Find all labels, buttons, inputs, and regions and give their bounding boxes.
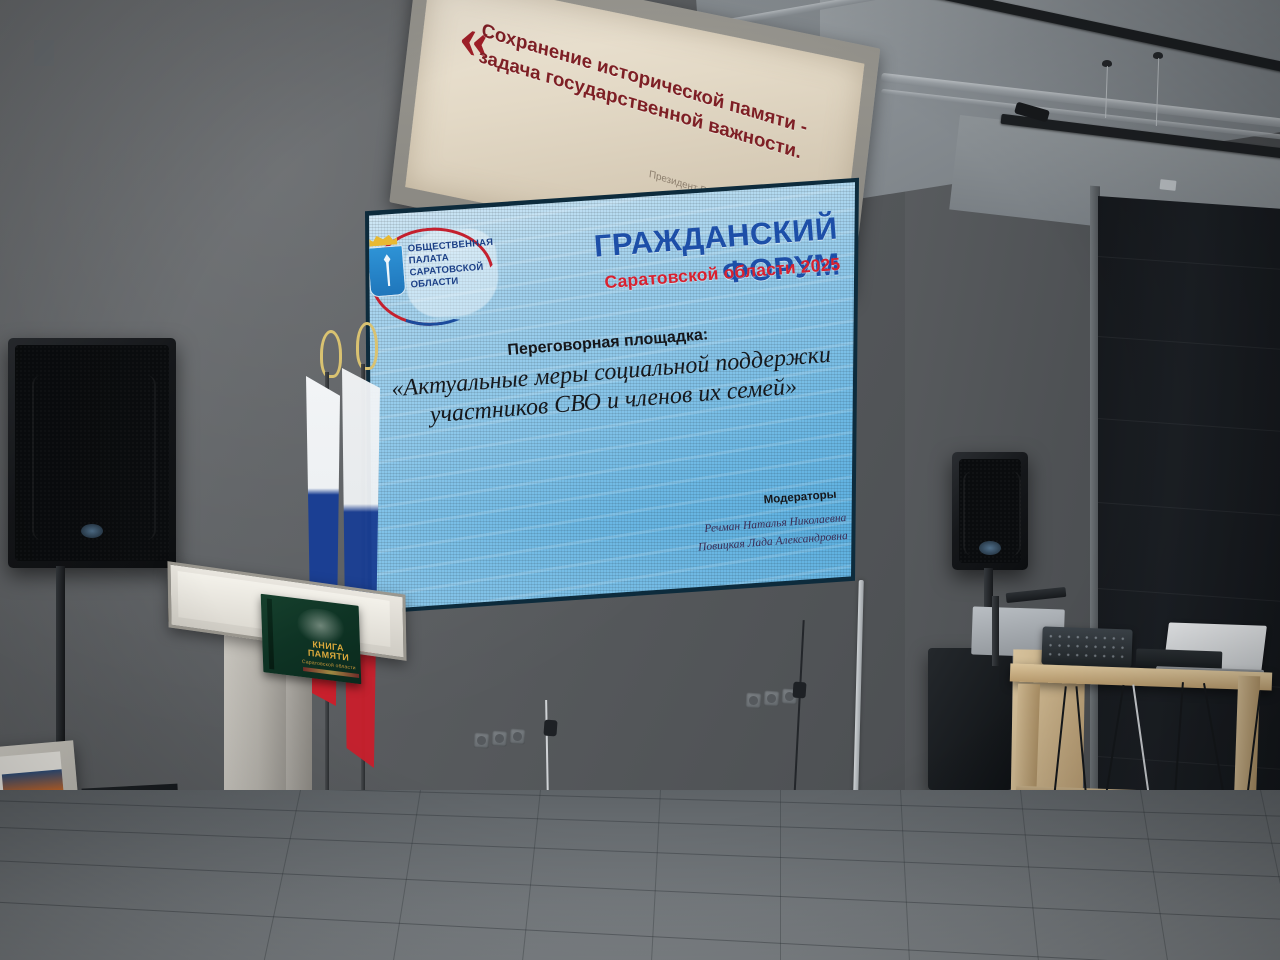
flag-finial-icon — [320, 330, 342, 378]
speaker-brand-badge-icon — [979, 541, 1001, 555]
monitor-mount-pole — [992, 596, 999, 666]
led-video-wall: ОБЩЕСТВЕННАЯ ПАЛАТА САРАТОВСКОЙ ОБЛАСТИ … — [362, 176, 862, 616]
floor-tile-grid — [0, 790, 1280, 960]
pa-speaker-right — [952, 452, 1028, 570]
flag-finial-icon — [356, 322, 378, 370]
mixer-knob-array[interactable] — [1046, 632, 1129, 663]
led-screen-surface: ОБЩЕСТВЕННАЯ ПАЛАТА САРАТОВСКОЙ ОБЛАСТИ … — [362, 176, 862, 616]
speaker-brand-badge-icon — [81, 524, 103, 538]
slide-content: ОБЩЕСТВЕННАЯ ПАЛАТА САРАТОВСКОЙ ОБЛАСТИ … — [362, 176, 862, 616]
audio-mixing-console[interactable] — [1041, 626, 1132, 667]
coat-of-arms-shield-icon — [367, 245, 407, 298]
conference-hall-photo: « » Сохранение исторической памяти - зад… — [0, 0, 1280, 960]
speaker-waveguide — [32, 375, 157, 541]
wall-socket[interactable] — [763, 690, 779, 706]
sterlet-fish-icon — [380, 254, 395, 287]
memory-book: КНИГА ПАМЯТИ Саратовской области — [261, 594, 362, 684]
wall-switch-panel[interactable] — [34, 40, 54, 66]
pa-speaker-left — [8, 338, 176, 568]
plugged-connector — [792, 682, 806, 699]
wall-socket[interactable] — [509, 728, 525, 744]
subwoofer — [928, 648, 1012, 790]
tiled-floor — [0, 790, 1280, 960]
moderators-label: Модераторы — [763, 489, 837, 507]
plugged-connector — [543, 720, 557, 737]
moderators-list: Речман Наталья Николаевна Повицкая Лада … — [696, 510, 848, 557]
book-spine — [267, 599, 274, 670]
flag-cloth — [342, 368, 380, 768]
wall-junction-box — [1160, 179, 1177, 191]
wall-socket[interactable] — [745, 692, 761, 708]
wall-socket[interactable] — [491, 730, 507, 746]
wall-socket[interactable] — [473, 732, 489, 748]
